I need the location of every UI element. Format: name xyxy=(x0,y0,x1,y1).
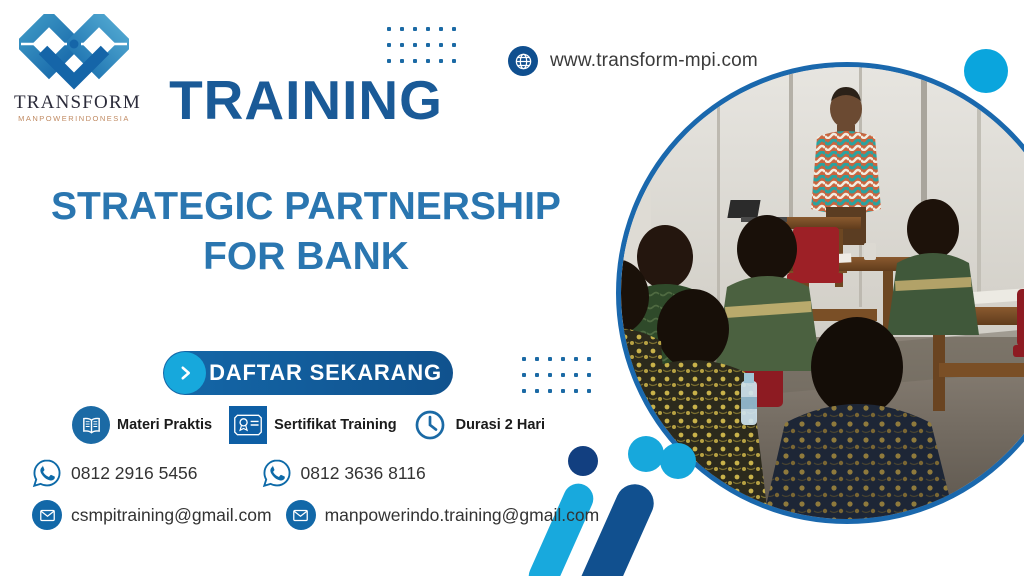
open-book-icon xyxy=(72,406,110,444)
envelope-icon xyxy=(32,500,62,530)
phone-contact-1[interactable]: 0812 2916 5456 xyxy=(32,458,198,488)
email-contact-2[interactable]: manpowerindo.training@gmail.com xyxy=(286,500,600,530)
clock-icon xyxy=(411,406,449,444)
phone-contact-2[interactable]: 0812 3636 8116 xyxy=(262,458,426,488)
feature-label: Materi Praktis xyxy=(117,417,212,433)
features-row: Materi Praktis Sertifikat Training xyxy=(72,406,545,444)
dot-grid-pattern-middle xyxy=(522,357,600,405)
page-title-line1: STRATEGIC PARTNERSHIP xyxy=(0,182,612,232)
whatsapp-icon xyxy=(32,458,62,488)
register-button[interactable]: DAFTAR SEKARANG xyxy=(163,351,453,395)
page-title-line2: FOR BANK xyxy=(0,232,612,282)
flyer-canvas: TRANSFORM MANPOWERINDONESIA www.transfor… xyxy=(0,0,1024,576)
email-address[interactable]: manpowerindo.training@gmail.com xyxy=(325,505,600,526)
feature-label: Durasi 2 Hari xyxy=(456,417,545,433)
page-title: STRATEGIC PARTNERSHIP FOR BANK xyxy=(0,182,612,282)
whatsapp-icon xyxy=(262,458,292,488)
envelope-icon xyxy=(286,500,316,530)
email-row: csmpitraining@gmail.com manpowerindo.tra… xyxy=(32,500,599,530)
register-button-label: DAFTAR SEKARANG xyxy=(206,360,453,386)
chevron-right-icon xyxy=(164,352,206,394)
circle-shape-bottom xyxy=(660,443,696,479)
page-eyebrow: TRAINING xyxy=(0,68,612,132)
phone-number[interactable]: 0812 2916 5456 xyxy=(71,463,198,484)
certificate-icon xyxy=(229,406,267,444)
feature-materi-praktis: Materi Praktis xyxy=(72,406,212,444)
feature-durasi: Durasi 2 Hari xyxy=(411,406,545,444)
phone-number[interactable]: 0812 3636 8116 xyxy=(301,463,426,484)
feature-sertifikat-training: Sertifikat Training xyxy=(229,406,396,444)
email-address[interactable]: csmpitraining@gmail.com xyxy=(71,505,272,526)
phone-row: 0812 2916 5456 0812 3636 8116 xyxy=(32,458,426,488)
feature-label: Sertifikat Training xyxy=(274,417,396,433)
email-contact-1[interactable]: csmpitraining@gmail.com xyxy=(32,500,272,530)
